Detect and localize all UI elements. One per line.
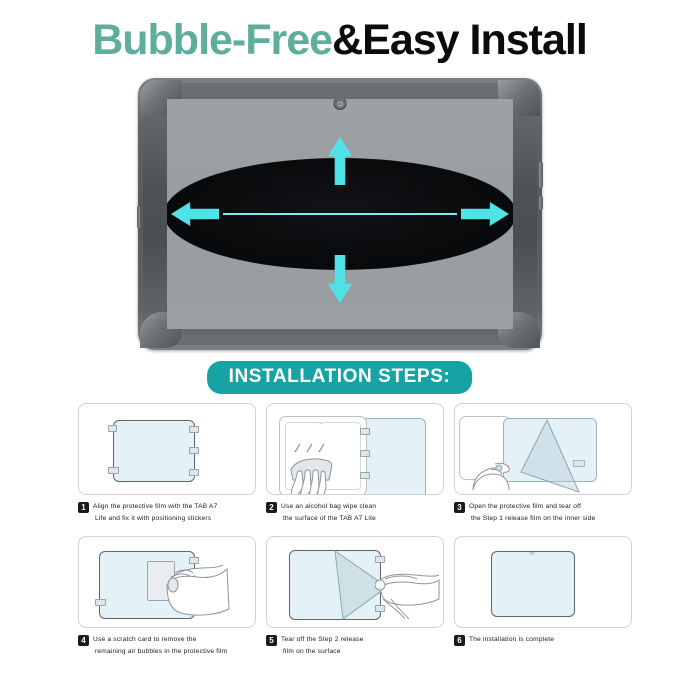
step-number-badge: 6 — [454, 635, 465, 646]
step-caption-2: 2 Use an alcohol bag wipe clean the surf… — [266, 501, 446, 524]
step-caption-line: film on the surface — [281, 646, 364, 658]
step-caption-4: 4 Use a scratch card to remove the remai… — [78, 634, 258, 657]
step-caption-line: Use an alcohol bag wipe clean — [281, 501, 376, 513]
step-number-badge: 5 — [266, 635, 277, 646]
step-caption-text: Align the protective film with the TAB A… — [93, 501, 218, 524]
installed-protective-film — [491, 551, 575, 617]
positioning-sticker — [189, 469, 199, 476]
step-caption-3: 3 Open the protective film and tear off … — [454, 501, 634, 524]
hand-with-wipe-icon — [285, 440, 365, 495]
side-port-icon — [137, 206, 140, 228]
step-caption-line: the surface of the TAB A7 Lite — [281, 513, 376, 525]
positioning-sticker — [108, 425, 117, 432]
positioning-sticker — [108, 467, 119, 474]
step-number-badge: 2 — [266, 502, 277, 513]
step-number-badge: 1 — [78, 502, 89, 513]
step-caption-text: The installation is complete — [469, 634, 554, 646]
step-caption-text: Use an alcohol bag wipe clean the surfac… — [281, 501, 376, 524]
tablet-case-outer — [138, 78, 542, 350]
step-item-6: 6 The installation is complete — [454, 536, 634, 669]
hero-tablet-illustration — [138, 78, 542, 350]
page-title-secondary: &Easy Install — [332, 19, 587, 62]
step-caption-line: Use a scratch card to remove the — [93, 634, 227, 646]
protective-film — [113, 420, 195, 482]
step-caption-line: Life and fix it with positioning sticker… — [93, 513, 218, 525]
step-illustration-2 — [266, 403, 444, 495]
tablet-screen — [167, 99, 513, 329]
hand-holding-card-icon — [157, 555, 231, 619]
step-illustration-6 — [454, 536, 632, 628]
step-illustration-5 — [266, 536, 444, 628]
step-illustration-4 — [78, 536, 256, 628]
installation-steps-label: INSTALLATION STEPS: — [229, 366, 451, 387]
film-corner-tab — [573, 460, 585, 467]
horizontal-guide-line — [223, 213, 457, 215]
step-caption-line: Align the protective film with the TAB A… — [93, 501, 218, 513]
step-caption-line: The installation is complete — [469, 634, 554, 646]
step-caption-line: the Step 1 release film on the inner sid… — [469, 513, 595, 525]
step-item-4: 4 Use a scratch card to remove the remai… — [78, 536, 258, 669]
step-number-badge: 3 — [454, 502, 465, 513]
volume-button-icon — [539, 196, 543, 210]
step-illustration-1 — [78, 403, 256, 495]
step-caption-line: Open the protective film and tear off — [469, 501, 595, 513]
step-item-5: 5 Tear off the Step 2 release film on th… — [266, 536, 446, 669]
step-item-2: 2 Use an alcohol bag wipe clean the surf… — [266, 403, 446, 536]
installation-steps-banner: INSTALLATION STEPS: — [207, 361, 473, 394]
positioning-sticker — [189, 426, 199, 433]
step-item-3: 3 Open the protective film and tear off … — [454, 403, 634, 536]
page-title-primary: Bubble-Free — [92, 19, 332, 62]
step-caption-5: 5 Tear off the Step 2 release film on th… — [266, 634, 446, 657]
step-caption-1: 1 Align the protective film with the TAB… — [78, 501, 258, 524]
hand-peeling-icon — [469, 450, 531, 494]
hand-pulling-film-icon — [375, 565, 441, 621]
step-caption-line: remaining air bubbles in the protective … — [93, 646, 227, 658]
step-item-1: 1 Align the protective film with the TAB… — [78, 403, 258, 536]
step-illustration-3 — [454, 403, 632, 495]
front-camera-icon — [319, 422, 323, 424]
folded-protective-film — [362, 418, 426, 495]
step-caption-line: Tear off the Step 2 release — [281, 634, 364, 646]
page-title: Bubble-Free&Easy Install — [0, 14, 679, 66]
installation-steps-grid: 1 Align the protective film with the TAB… — [78, 403, 608, 669]
step-number-badge: 4 — [78, 635, 89, 646]
step-caption-text: Tear off the Step 2 release film on the … — [281, 634, 364, 657]
power-button-icon — [539, 162, 543, 188]
step-caption-6: 6 The installation is complete — [454, 634, 634, 646]
front-camera-icon — [334, 99, 347, 110]
footer-spacer — [0, 672, 679, 678]
positioning-sticker — [189, 447, 199, 454]
step-caption-text: Use a scratch card to remove the remaini… — [93, 634, 227, 657]
film-hinge-tab — [360, 428, 370, 435]
step-caption-text: Open the protective film and tear off th… — [469, 501, 595, 524]
positioning-sticker — [95, 599, 106, 606]
